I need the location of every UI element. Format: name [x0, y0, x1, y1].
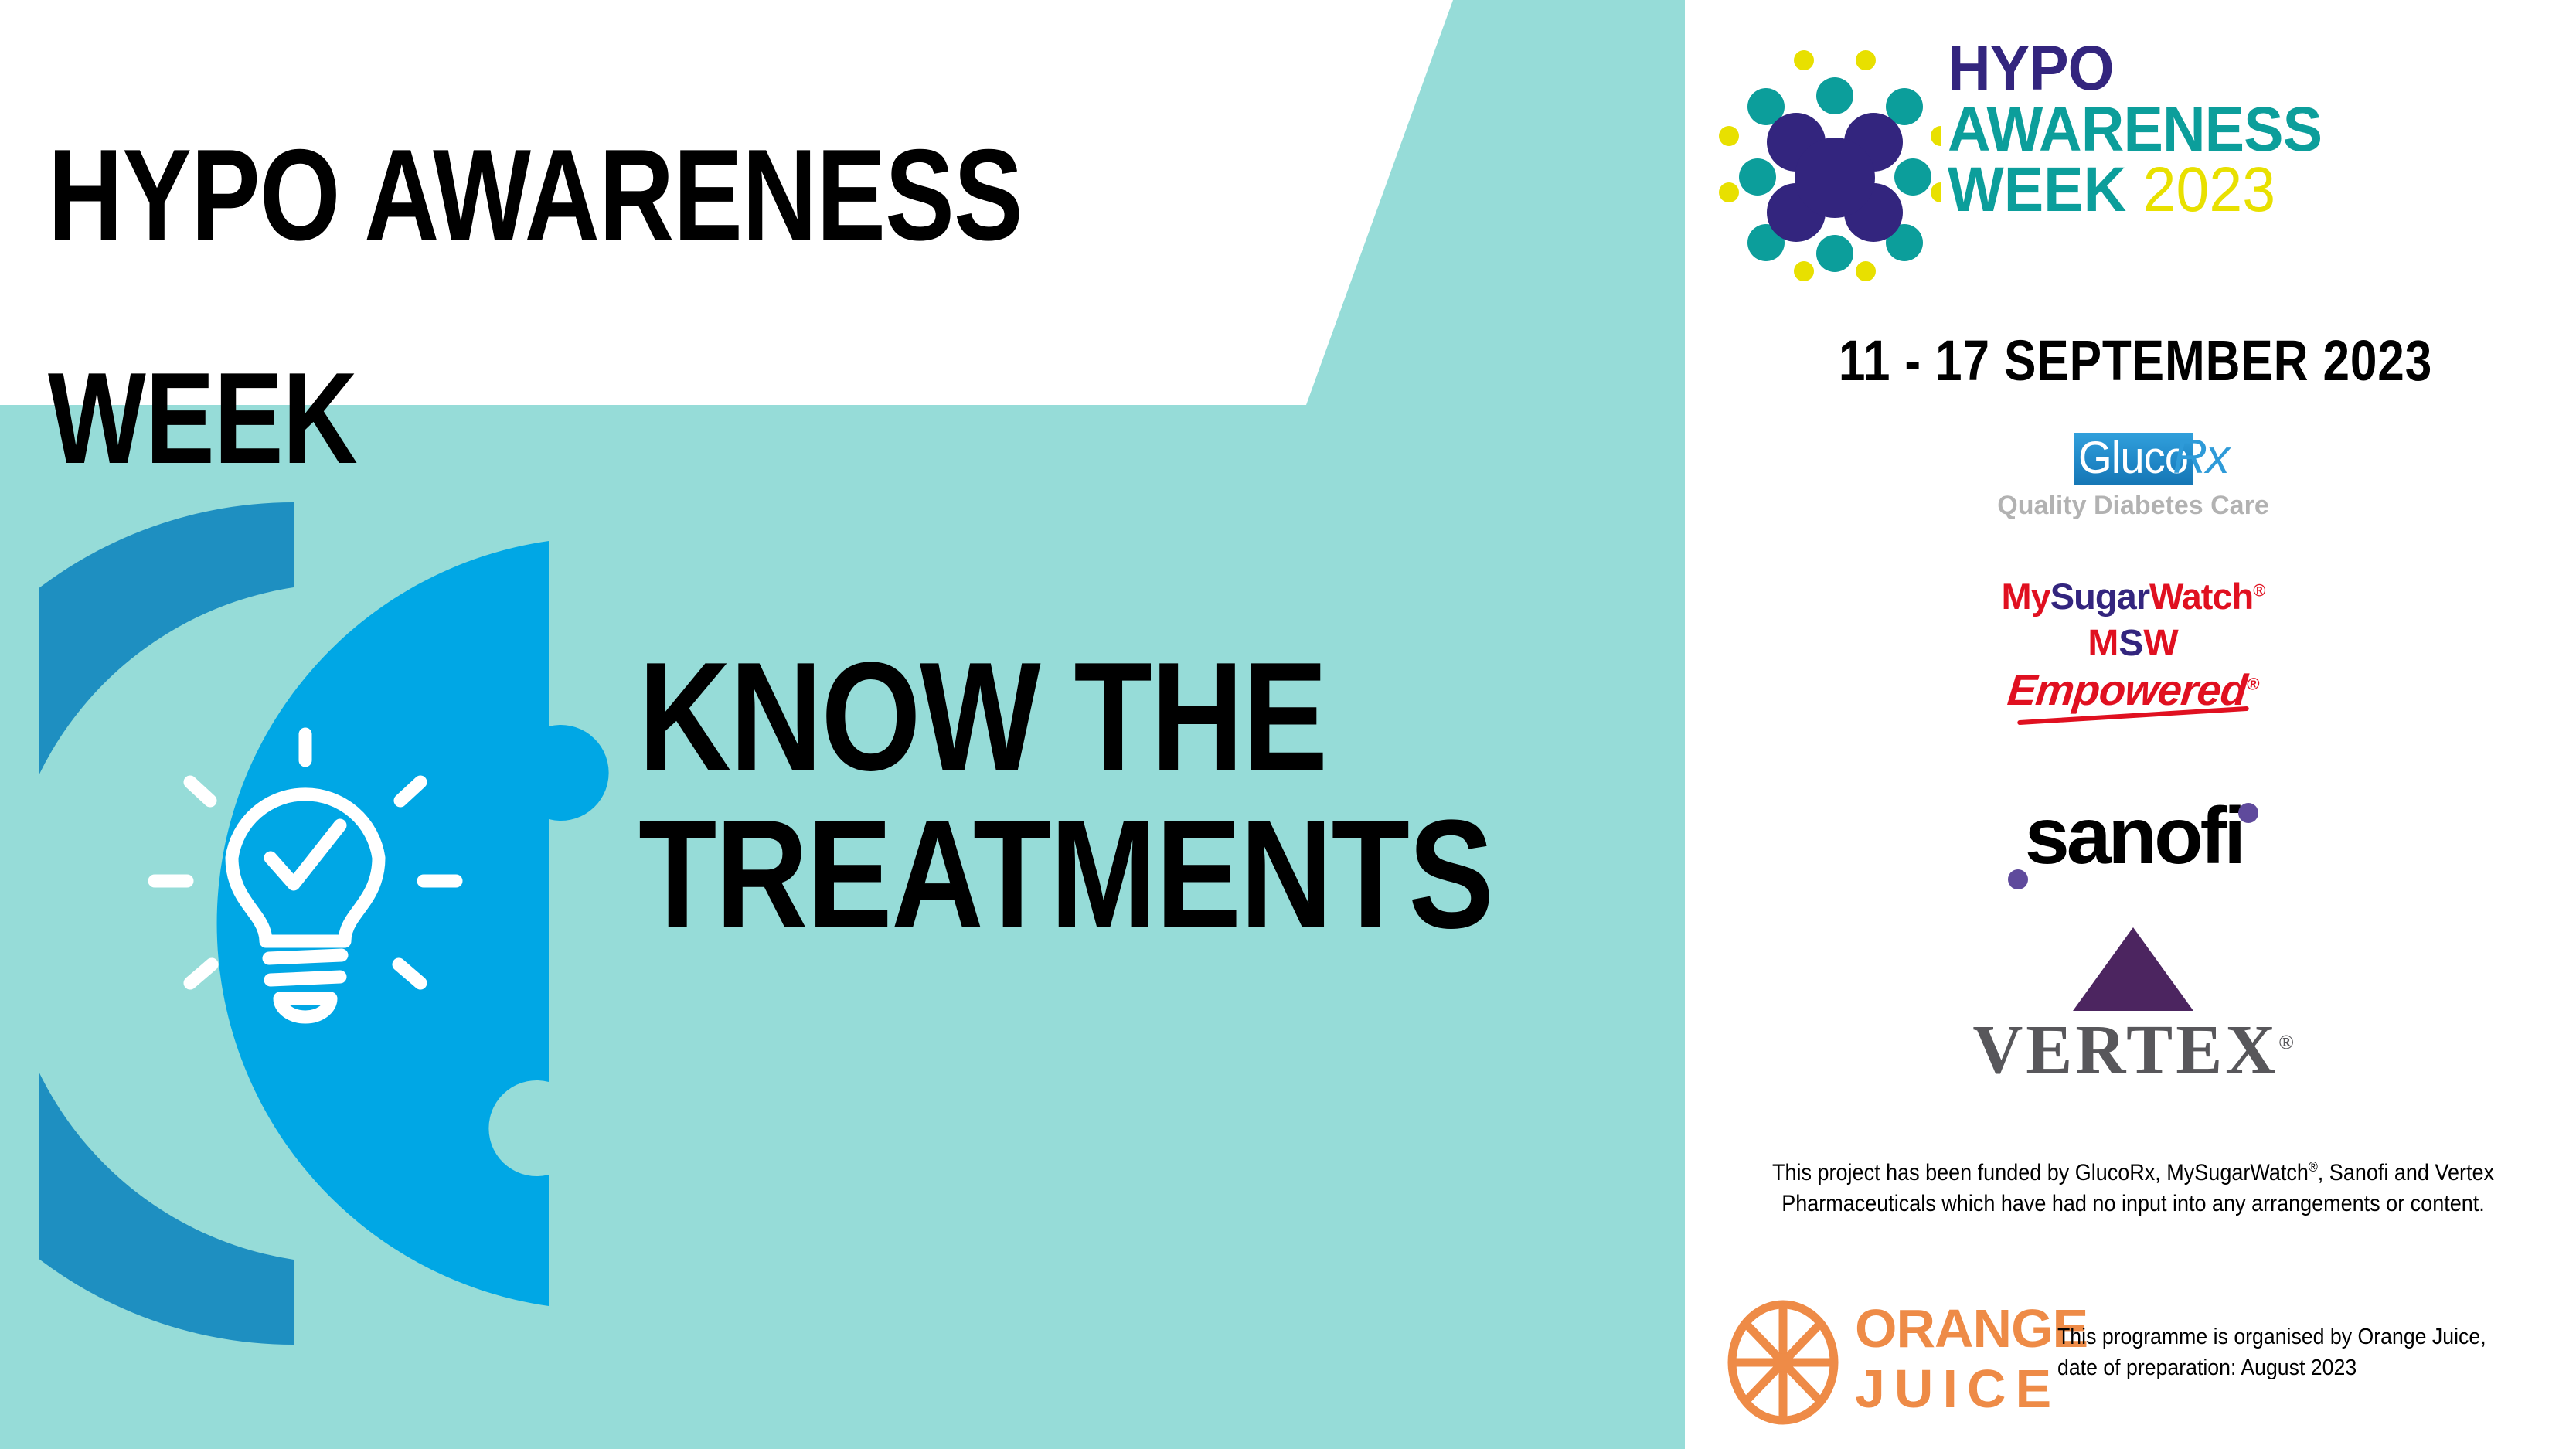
sponsor-logo-vertex: VERTEX®: [1917, 927, 2350, 1085]
message-line-2: TREATMENTS: [638, 796, 1434, 954]
msw-abbrev-m: M: [2088, 623, 2118, 664]
date-banner: 11 - 17 SEPTEMBER 2023: [1781, 332, 2489, 389]
msw-abbrev-s: S: [2118, 623, 2143, 664]
sponsor-logo-mysugarwatch: MySugarWatch® MSW Empowered®: [1917, 578, 2350, 718]
glucorx-wordmark-main: Gluco: [2078, 434, 2188, 484]
orange-juice-wordmark: ORANGE JUICE: [1855, 1301, 2056, 1416]
vertex-registered-mark: ®: [2278, 1031, 2293, 1053]
logo-line-awareness: AWARENESS: [1948, 100, 2529, 161]
message-line-1: KNOW THE: [638, 638, 1434, 796]
hypo-awareness-dot-cluster-icon: [1717, 36, 1941, 298]
orange-juice-line-2: JUICE: [1855, 1362, 2056, 1416]
main-message: KNOW THE TREATMENTS: [638, 638, 1434, 954]
organiser-note-line-1: This programme is organised by Orange: [2057, 1325, 2426, 1349]
footer-row: ORANGE JUICE This programme is organised…: [1717, 1292, 2552, 1431]
headline-line-2: WEEK: [48, 362, 1136, 474]
puzzle-body: [217, 541, 609, 1306]
msw-abbrev-w: W: [2143, 623, 2178, 664]
disclaimer-registered-mark: ®: [2309, 1159, 2318, 1175]
disclaimer-line-2: Pharmaceuticals which have had no input …: [1781, 1191, 2485, 1216]
vertex-triangle-icon: [2073, 927, 2193, 1011]
sponsor-logo-glucorx: Gluco Rx Quality Diabetes Care: [1917, 433, 2350, 521]
logo-line-hypo: HYPO: [1948, 39, 2529, 100]
left-teal-panel: HYPO AWARENESS WEEK: [0, 0, 1685, 1449]
msw-part-my: My: [2002, 576, 2050, 617]
hypo-awareness-week-logo: HYPO AWARENESS WEEK 2023: [1708, 28, 2558, 306]
msw-abbrev: MSW: [1917, 625, 2350, 662]
msw-part-sugar: Sugar: [2050, 576, 2149, 617]
disclaimer-line-1b: , Sanofi and Vertex: [2318, 1160, 2494, 1185]
glucorx-mark: Gluco Rx: [2074, 433, 2193, 485]
logo-year: 2023: [2143, 155, 2275, 225]
organiser-note: This programme is organised by Orange Ju…: [2057, 1321, 2498, 1383]
logo-line-week-year: WEEK 2023: [1948, 160, 2529, 221]
orange-juice-logo: ORANGE JUICE: [1725, 1297, 2050, 1428]
poster-canvas: HYPO AWARENESS WEEK: [0, 0, 2576, 1449]
msw-part-watch: Watch: [2149, 576, 2253, 617]
puzzle-piece-graphic: [39, 495, 626, 1352]
orange-slice-icon: [1725, 1300, 1841, 1425]
glucorx-wordmark-rx: Rx: [2173, 431, 2228, 484]
msw-empowered-row: Empowered®: [1917, 662, 2350, 718]
hypo-awareness-wordmark: HYPO AWARENESS WEEK 2023: [1948, 39, 2566, 221]
msw-registered-mark: ®: [2253, 580, 2265, 600]
vertex-wordmark-row: VERTEX®: [1917, 1015, 2350, 1085]
mysugarwatch-wordmark: MySugarWatch®: [1917, 578, 2350, 614]
disclaimer-line-1a: This project has been funded by GlucoRx,…: [1772, 1160, 2309, 1185]
vertex-wordmark: VERTEX: [1972, 1012, 2278, 1088]
orange-juice-line-1: ORANGE: [1855, 1301, 2056, 1355]
msw-empowered-registered: ®: [2246, 674, 2260, 693]
sanofi-leading-dot-icon: [2008, 869, 2028, 889]
glucorx-tagline: Quality Diabetes Care: [1917, 491, 2350, 521]
headline-line-1: HYPO AWARENESS: [48, 139, 1136, 250]
msw-empowered: Empowered®: [2006, 668, 2261, 712]
sanofi-wordmark: sanofi: [2025, 796, 2243, 876]
msw-empowered-text: Empowered: [2006, 665, 2249, 714]
funding-disclaimer: This project has been funded by GlucoRx,…: [1764, 1158, 2502, 1219]
sponsor-logo-sanofi: sanofi: [1917, 796, 2350, 889]
logo-week: WEEK: [1948, 155, 2126, 225]
right-sponsor-panel: HYPO AWARENESS WEEK 2023 11 - 17 SEPTEMB…: [1685, 0, 2576, 1449]
sanofi-i-dot-icon: [2238, 803, 2258, 823]
